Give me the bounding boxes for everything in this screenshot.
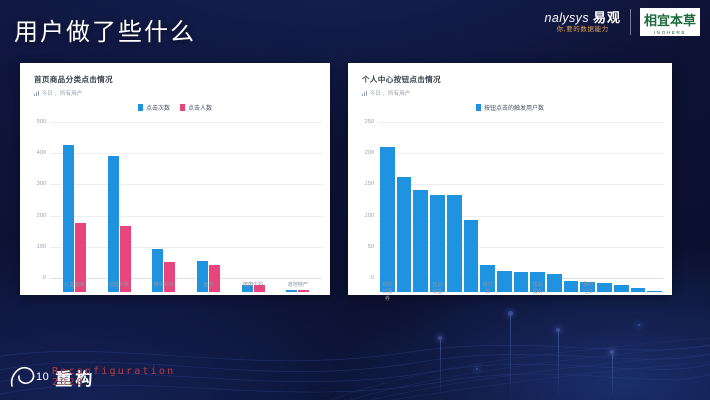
card-subtitle: 今日 ，所有用户 (370, 89, 411, 97)
x-axis-tick-label (597, 281, 612, 302)
bar-group (97, 156, 142, 292)
analysys-logo-english: nalysys (544, 12, 588, 25)
analysys-logo-tagline: 你,要的数据能力 (557, 27, 609, 34)
bar[interactable] (380, 147, 395, 292)
x-axis: 我的优惠券售后佣金待付款售后服务我的社交 (380, 281, 662, 302)
y-axis-tick-label: 150 (365, 181, 374, 187)
chart-legend: 点击次数点击人数 (20, 103, 330, 112)
bar-chart-icon (362, 91, 367, 96)
y-axis-tick-label: 300 (37, 181, 46, 187)
x-axis-tick-label: 我的社交 (580, 281, 595, 302)
x-axis-tick-label: 面膜 (186, 281, 231, 288)
x-axis-tick-label: 售后佣金 (430, 281, 445, 302)
card-subtitle-row: 今日 ，所有用户 (34, 89, 330, 97)
bar-group (275, 290, 320, 292)
card-subtitle: 今日 ，所有用户 (42, 89, 83, 97)
x-axis-tick-label (464, 281, 479, 302)
legend-swatch (180, 104, 185, 111)
x-axis-tick-label (614, 281, 629, 302)
bars-container (380, 136, 662, 292)
card-subtitle-row: 今日 ，所有用户 (362, 89, 672, 97)
x-axis-tick-label (413, 281, 428, 302)
x-axis-tick-label (547, 281, 562, 302)
legend-label: 点击人数 (188, 103, 212, 112)
client-logo: 相宜本草 INOHERB (640, 8, 700, 36)
bar[interactable] (447, 195, 462, 292)
a-swirl-icon (8, 364, 38, 390)
y-axis-tick-label: 100 (365, 213, 374, 219)
chart-card-product-categories: 首页商品分类点击情况 今日 ，所有用户 点击次数点击人数 01002003004… (20, 63, 330, 295)
bar[interactable] (413, 190, 428, 292)
y-axis-tick-label: 0 (43, 275, 46, 281)
bar[interactable] (286, 290, 297, 292)
brand-bar: nalysys 易观 你,要的数据能力 相宜本草 INOHERB (544, 8, 700, 36)
legend-label: 按钮点击的触发用户数 (484, 103, 544, 112)
bar[interactable] (298, 290, 309, 292)
y-axis: 0100200300400500 (26, 122, 48, 292)
gridline (378, 122, 664, 123)
x-axis-tick-label (397, 281, 412, 302)
footer-english: Reconfiguration 2020 (52, 366, 175, 388)
logo-divider (630, 9, 631, 35)
footer-logo: 10 重构 Reconfiguration 2020 (8, 364, 95, 390)
gridline (50, 122, 322, 123)
chart-legend: 按钮点击的触发用户数 (348, 103, 672, 112)
bar[interactable] (430, 195, 445, 292)
y-axis-tick-label: 50 (368, 244, 374, 250)
legend-swatch (476, 104, 481, 111)
y-axis: 050100150200250 (354, 122, 376, 292)
bars-container (52, 136, 320, 292)
x-axis-tick-label: 健康个护 (231, 281, 276, 288)
x-axis-tick-label (647, 281, 662, 302)
y-axis-tick-label: 500 (37, 119, 46, 125)
bar-chart-icon (34, 91, 39, 96)
bar[interactable] (108, 156, 119, 292)
client-logo-english: INOHERB (654, 30, 686, 35)
bar-group (52, 145, 97, 292)
x-axis-tick-label (447, 281, 462, 302)
card-title: 个人中心按钮点击情况 (362, 74, 672, 85)
y-axis-tick-label: 250 (365, 119, 374, 125)
x-axis-tick-label (631, 281, 646, 302)
legend-swatch (138, 104, 143, 111)
x-axis-tick-label: 待付款 (480, 281, 495, 302)
chart-plot-area: 050100150200250我的优惠券售后佣金待付款售后服务我的社交 (354, 122, 666, 292)
slide-background: 用户做了些什么 nalysys 易观 你,要的数据能力 相宜本草 INOHERB… (0, 0, 710, 400)
legend-label: 点击次数 (146, 103, 170, 112)
card-title: 首页商品分类点击情况 (34, 74, 330, 85)
chart-card-profile-buttons: 个人中心按钮点击情况 今日 ，所有用户 按钮点击的触发用户数 050100150… (348, 63, 672, 295)
legend-item[interactable]: 按钮点击的触发用户数 (476, 103, 544, 112)
y-axis-tick-label: 0 (371, 275, 374, 281)
analysys-logo-chinese: 易观 (593, 11, 621, 24)
y-axis-tick-label: 200 (37, 213, 46, 219)
y-axis-tick-label: 400 (37, 150, 46, 156)
x-axis-tick-label: 道地特产 (275, 281, 320, 288)
chart-plot-area: 0100200300400500礼盒套装面部护肤精华原液面膜健康个护道地特产 (26, 122, 324, 292)
legend-item[interactable]: 点击人数 (180, 103, 212, 112)
analysys-logo: nalysys 易观 你,要的数据能力 (544, 11, 621, 34)
page-title: 用户做了些什么 (14, 12, 196, 47)
y-axis-tick-label: 100 (37, 244, 46, 250)
bar[interactable] (397, 177, 412, 292)
x-axis-tick-label: 面部护肤 (97, 281, 142, 288)
x-axis-tick-label (497, 281, 512, 302)
client-logo-chinese: 相宜本草 (644, 10, 696, 29)
x-axis-tick-label: 我的优惠券 (380, 281, 395, 302)
x-axis-tick-label: 售后服务 (530, 281, 545, 302)
bar[interactable] (63, 145, 74, 292)
x-axis-tick-label (514, 281, 529, 302)
x-axis-tick-label: 礼盒套装 (52, 281, 97, 288)
y-axis-tick-label: 200 (365, 150, 374, 156)
x-axis: 礼盒套装面部护肤精华原液面膜健康个护道地特产 (52, 281, 320, 288)
legend-item[interactable]: 点击次数 (138, 103, 170, 112)
x-axis-tick-label (564, 281, 579, 302)
x-axis-tick-label: 精华原液 (141, 281, 186, 288)
